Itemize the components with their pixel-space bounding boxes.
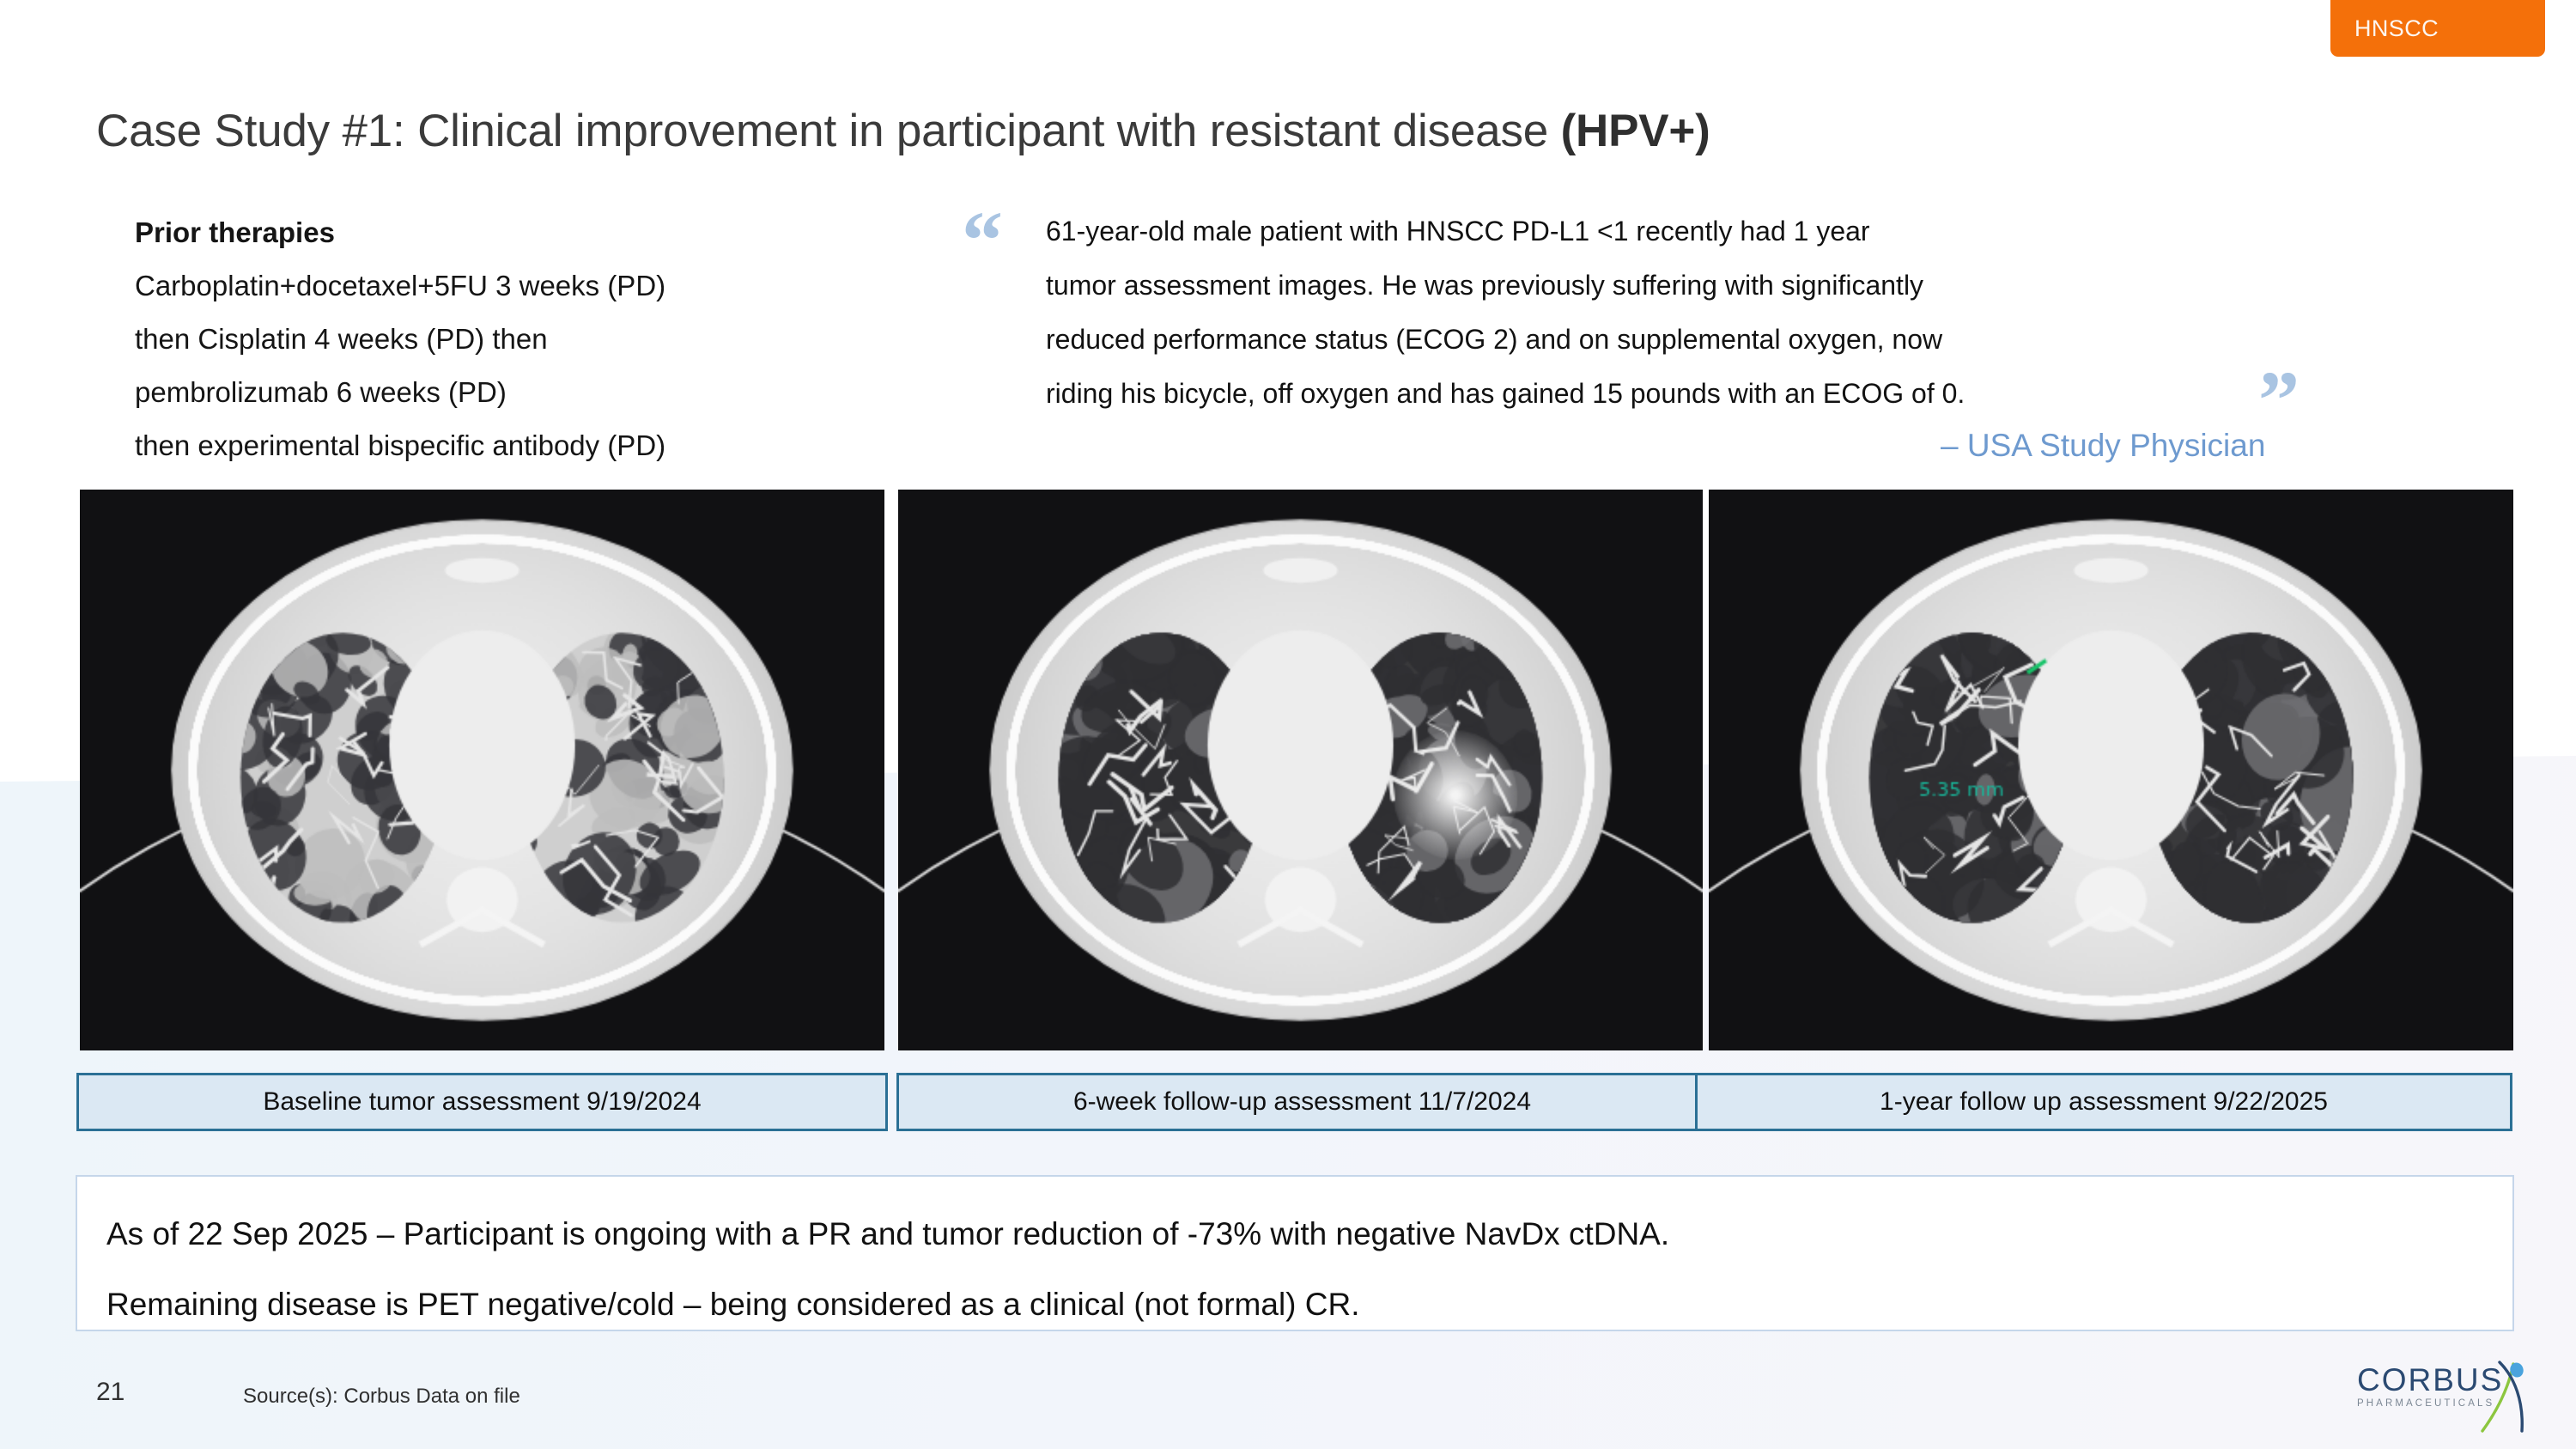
summary-line-1: As of 22 Sep 2025 – Participant is ongoi… — [106, 1199, 2483, 1269]
six-week-ct-caption: 6-week follow-up assessment 11/7/2024 — [896, 1073, 1708, 1131]
corbus-figure-icon — [2474, 1359, 2541, 1433]
quote-open-mark: “ — [962, 199, 1003, 282]
page-title-main: Case Study #1: Clinical improvement in p… — [96, 106, 1561, 156]
six-week-ct-image — [898, 490, 1703, 1050]
quote-line: riding his bicycle, off oxygen and has g… — [1046, 367, 2265, 421]
hnscc-badge-label: HNSCC — [2330, 15, 2439, 42]
hnscc-indication-badge: HNSCC — [2330, 0, 2545, 57]
baseline-ct-image — [80, 490, 884, 1050]
prior-therapies-block: Prior therapies Carboplatin+docetaxel+5F… — [135, 206, 993, 472]
page-title-emphasis: (HPV+) — [1561, 106, 1710, 156]
prior-therapy-line: Carboplatin+docetaxel+5FU 3 weeks (PD) — [135, 259, 993, 313]
summary-line-2: Remaining disease is PET negative/cold –… — [106, 1269, 2483, 1340]
physician-quote-block: 61-year-old male patient with HNSCC PD-L… — [1046, 204, 2265, 421]
quote-line: tumor assessment images. He was previous… — [1046, 259, 2265, 313]
quote-line: reduced performance status (ECOG 2) and … — [1046, 313, 2265, 367]
source-note: Source(s): Corbus Data on file — [243, 1385, 520, 1409]
baseline-ct-caption: Baseline tumor assessment 9/19/2024 — [76, 1073, 888, 1131]
corbus-logo: CORBUS PHARMACEUTICALS — [2357, 1364, 2529, 1426]
one-year-ct-caption: 1-year follow up assessment 9/22/2025 — [1695, 1073, 2512, 1131]
quote-attribution: – USA Study Physician — [1941, 428, 2265, 464]
caption-text: 1-year follow up assessment 9/22/2025 — [1880, 1087, 2328, 1117]
caption-text: Baseline tumor assessment 9/19/2024 — [263, 1087, 701, 1117]
page-number: 21 — [96, 1378, 125, 1407]
one-year-ct-image — [1709, 490, 2513, 1050]
summary-box: As of 22 Sep 2025 – Participant is ongoi… — [76, 1175, 2514, 1331]
prior-therapies-heading: Prior therapies — [135, 206, 993, 259]
caption-text: 6-week follow-up assessment 11/7/2024 — [1073, 1087, 1531, 1117]
prior-therapy-line: pembrolizumab 6 weeks (PD) — [135, 366, 993, 419]
slide-canvas: HNSCC Case Study #1: Clinical improvemen… — [0, 0, 2576, 1449]
page-title: Case Study #1: Clinical improvement in p… — [96, 105, 1710, 157]
prior-therapy-line: then Cisplatin 4 weeks (PD) then — [135, 313, 993, 366]
quote-line: 61-year-old male patient with HNSCC PD-L… — [1046, 204, 2265, 259]
prior-therapy-line: then experimental bispecific antibody (P… — [135, 419, 993, 472]
